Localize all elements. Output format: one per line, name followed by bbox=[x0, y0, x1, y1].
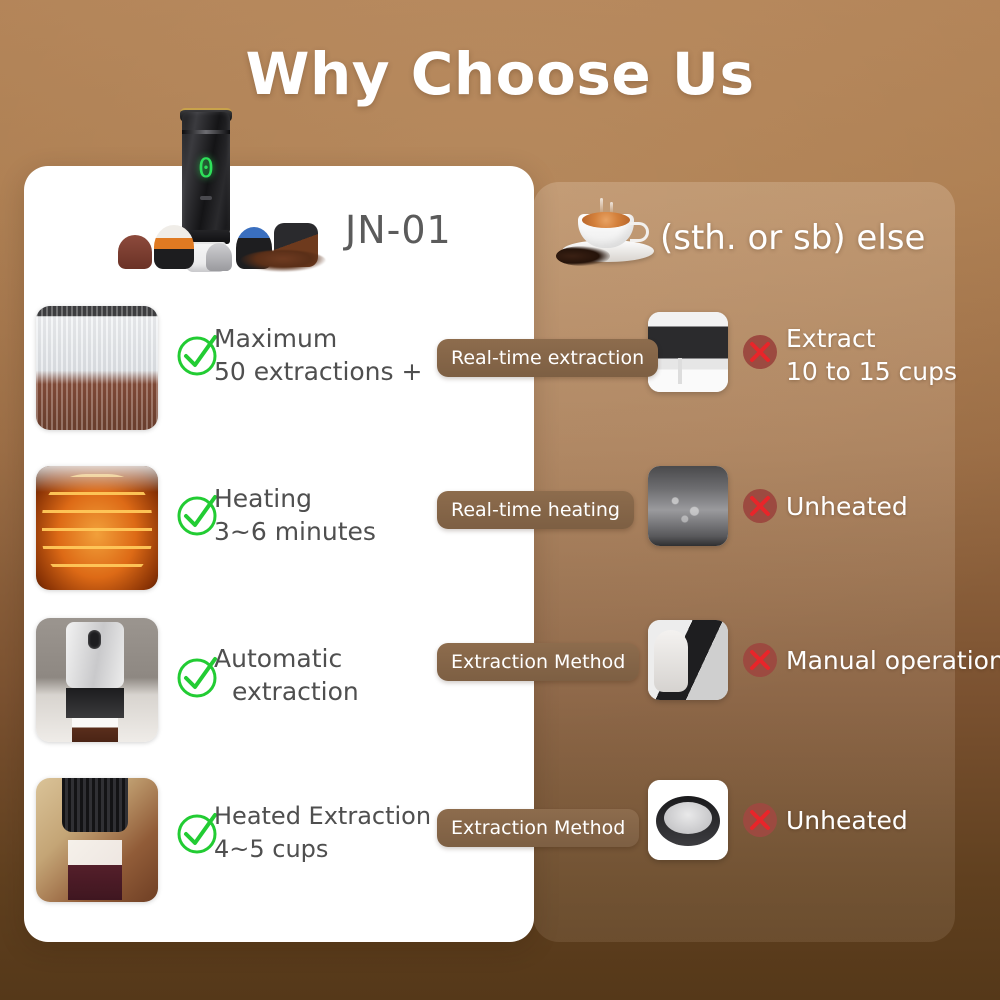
check-circle-icon bbox=[176, 334, 218, 376]
row2-left-line2: 3~6 minutes bbox=[214, 515, 464, 548]
machine-display: 0 bbox=[194, 152, 218, 186]
row1-right-line2: 10 to 15 cups bbox=[786, 357, 957, 386]
cross-circle-icon bbox=[742, 334, 778, 370]
row1-left-text: Maximum 50 extractions + bbox=[214, 322, 464, 388]
row3-left-text: Automatic extraction bbox=[214, 642, 464, 708]
row1-right-image bbox=[648, 312, 728, 392]
row3-left-image bbox=[36, 618, 158, 742]
row4-right-text: Unheated bbox=[786, 804, 908, 837]
row4-left-line1: Heated Extraction bbox=[214, 802, 431, 830]
row2-left-line1: Heating bbox=[214, 484, 312, 513]
row2-left-text: Heating 3~6 minutes bbox=[214, 482, 464, 548]
capsule-silver-icon bbox=[206, 243, 232, 271]
comparison-row-4: Heated Extraction 4~5 cups Extraction Me… bbox=[0, 772, 1000, 922]
row3-left-line1: Automatic bbox=[214, 644, 342, 673]
row1-right-line1: Extract bbox=[786, 324, 876, 353]
row3-left-line2: extraction bbox=[214, 675, 464, 708]
row4-feature-pill: Extraction Method bbox=[437, 809, 639, 847]
cup-handle bbox=[630, 222, 649, 242]
row3-right-text: Manual operation bbox=[786, 644, 1000, 677]
capsule-orange-icon bbox=[154, 225, 194, 269]
product-model-label: JN-01 bbox=[345, 208, 452, 252]
comparison-row-3: Automatic extraction Extraction Method M… bbox=[0, 612, 1000, 762]
competitor-label: (sth. or sb) else bbox=[660, 218, 925, 258]
row1-feature-pill: Real-time extraction bbox=[437, 339, 658, 377]
page-title: Why Choose Us bbox=[0, 40, 1000, 108]
row1-left-line2: 50 extractions + bbox=[214, 355, 464, 388]
check-circle-icon bbox=[176, 812, 218, 854]
comparison-row-1: Maximum 50 extractions + Real-time extra… bbox=[0, 300, 1000, 450]
crema-swirl bbox=[582, 212, 630, 228]
cross-circle-icon bbox=[742, 642, 778, 678]
check-circle-icon bbox=[176, 494, 218, 536]
machine-ring bbox=[182, 130, 230, 134]
coffee-grounds-image bbox=[240, 250, 326, 272]
row1-left-line1: Maximum bbox=[214, 324, 337, 353]
row4-right-image bbox=[648, 780, 728, 860]
row2-right-image bbox=[648, 466, 728, 546]
row1-right-text: Extract 10 to 15 cups bbox=[786, 322, 957, 388]
row1-left-image bbox=[36, 306, 158, 430]
row4-left-image bbox=[36, 778, 158, 902]
comparison-row-2: Heating 3~6 minutes Real-time heating Un… bbox=[0, 460, 1000, 610]
row2-feature-pill: Real-time heating bbox=[437, 491, 634, 529]
capsule-red-icon bbox=[118, 235, 152, 269]
cross-circle-icon bbox=[742, 488, 778, 524]
cross-circle-icon bbox=[742, 802, 778, 838]
row3-feature-pill: Extraction Method bbox=[437, 643, 639, 681]
row3-right-image bbox=[648, 620, 728, 700]
machine-button bbox=[200, 196, 212, 200]
cappuccino-cup-image bbox=[556, 200, 662, 268]
row2-right-text: Unheated bbox=[786, 490, 908, 523]
infographic-root: Why Choose Us 0 JN-01 (sth. or sb) else bbox=[0, 0, 1000, 1000]
check-circle-icon bbox=[176, 656, 218, 698]
row2-left-image bbox=[36, 466, 158, 590]
coffee-beans-image bbox=[556, 246, 610, 266]
